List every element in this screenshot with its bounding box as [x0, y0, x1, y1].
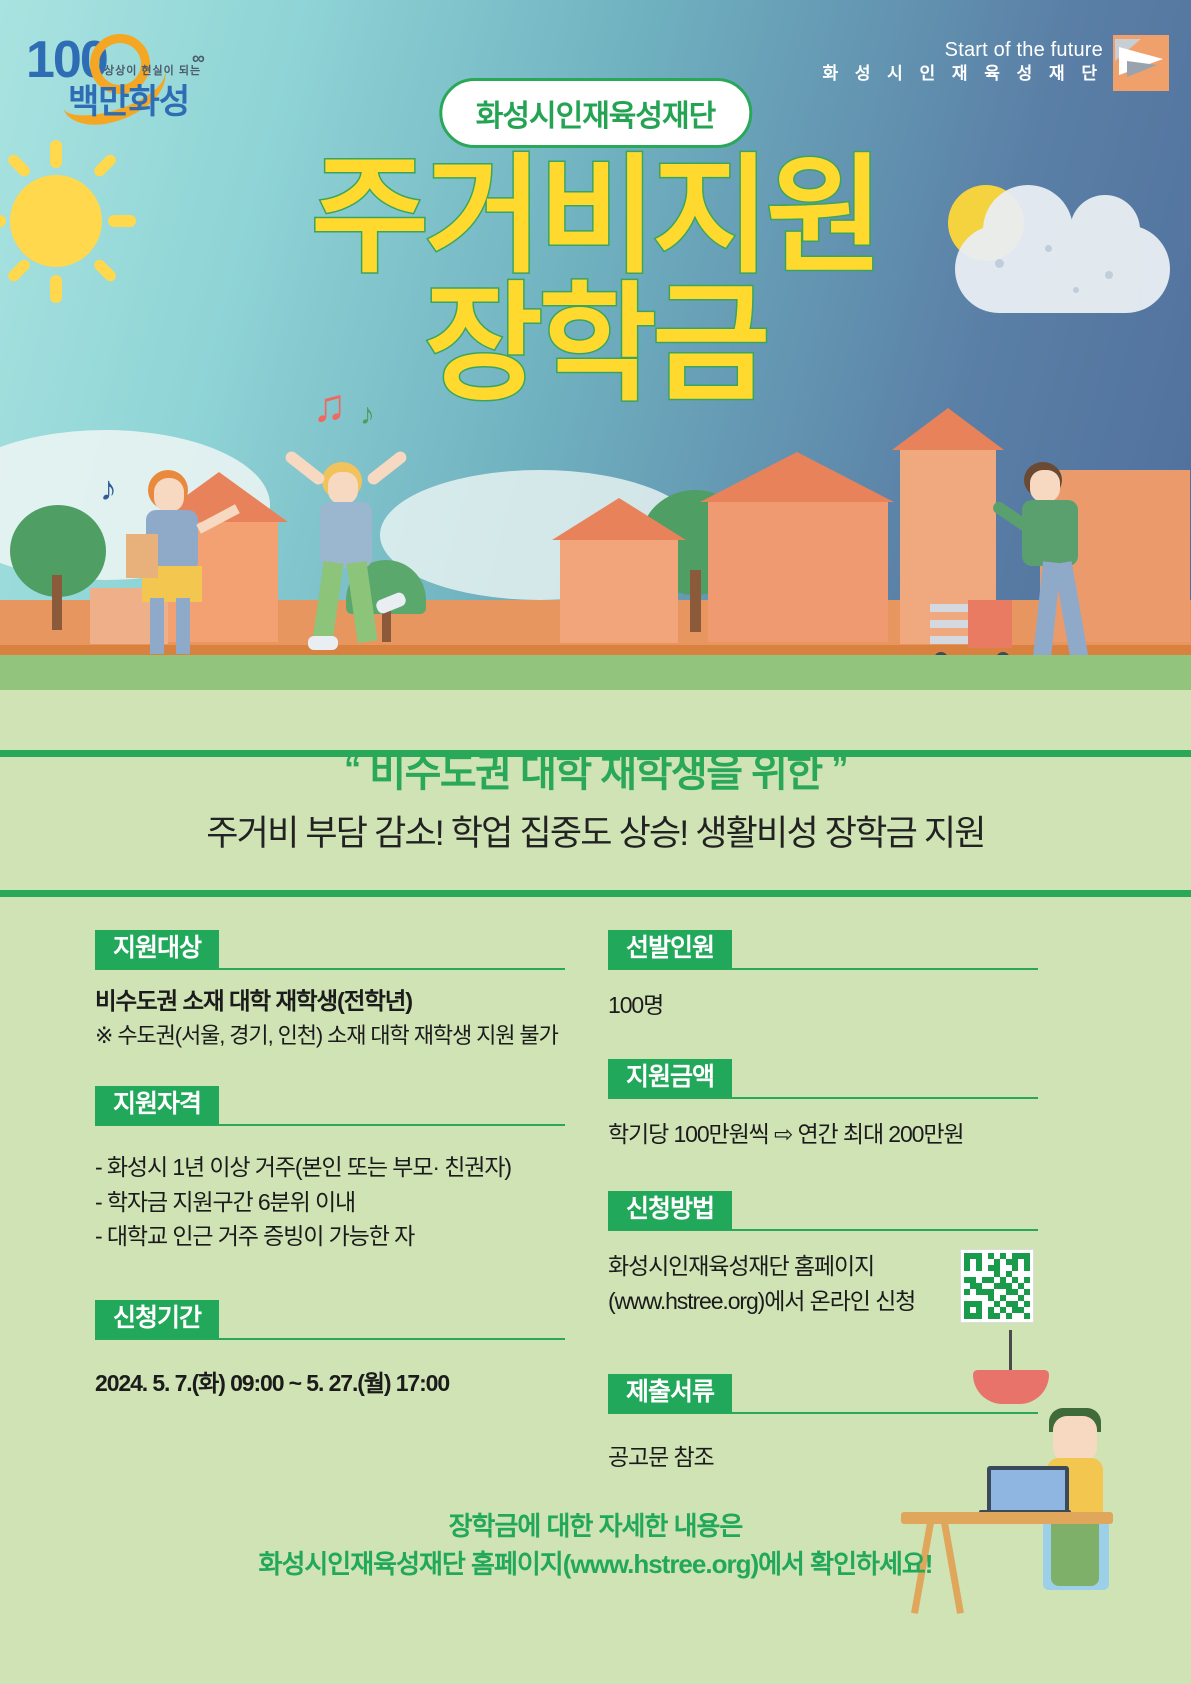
section-target: 지원대상 비수도권 소재 대학 재학생(전학년) ※ 수도권(서울, 경기, 인…	[95, 930, 565, 1052]
quote-close-mark: ”	[831, 750, 847, 788]
section-label-period: 신청기간	[95, 1300, 219, 1339]
left-column: 지원대상 비수도권 소재 대학 재학생(전학년) ※ 수도권(서울, 경기, 인…	[95, 930, 565, 1408]
quote-text: 비수도권 대학 재학생을 위한	[369, 751, 821, 795]
headline-quote: “ 비수도권 대학 재학생을 위한 ”	[0, 740, 1191, 798]
footer-line-2: 화성시인재육성재단 홈페이지(www.hstree.org)에서 확인하세요!	[0, 1546, 1191, 1584]
section-amount: 지원금액 학기당 100만원씩 ⇨ 연간 최대 200만원	[608, 1059, 1038, 1152]
period-value: 2024. 5. 7.(화) 09:00 ~ 5. 27.(월) 17:00	[95, 1370, 449, 1396]
section-label-eligibility: 지원자격	[95, 1086, 219, 1125]
person-head-shape	[1053, 1416, 1097, 1462]
eligibility-item: - 화성시 1년 이상 거주(본인 또는 부모· 친권자)	[95, 1150, 565, 1185]
target-note-text: ※ 수도권(서울, 경기, 인천) 소재 대학 재학생 지원 불가	[95, 1019, 565, 1052]
foundation-english: Start of the future	[822, 39, 1103, 61]
section-label-target: 지원대상	[95, 930, 219, 969]
documents-value: 공고문 참조	[608, 1444, 714, 1470]
music-note-icon: ♪	[100, 470, 117, 509]
music-note-icon: ♫	[312, 378, 347, 432]
house-roof-shape	[552, 498, 686, 540]
amount-value: 학기당 100만원씩 ⇨ 연간 최대 200만원	[608, 1121, 964, 1147]
section-method: 신청방법 화성시인재육성재단 홈페이지 (www.hstree.org)에서 온…	[608, 1191, 1038, 1318]
quota-value: 100명	[608, 992, 663, 1018]
section-quota: 선발인원 100명	[608, 930, 1038, 1023]
house-shape	[560, 538, 678, 643]
title-line-2: 장학금	[0, 278, 1191, 412]
eligibility-item: - 대학교 인근 거주 증빙이 가능한 자	[95, 1219, 565, 1254]
logo-name: 백만화성	[68, 74, 189, 123]
city-brand-logo: 100 상상이 현실이 되는 ∞ 백만화성	[26, 26, 256, 114]
section-label-amount: 지원금액	[608, 1059, 732, 1098]
house-roof-shape	[700, 452, 894, 502]
section-label-quota: 선발인원	[608, 930, 732, 969]
lamp-cord-shape	[1009, 1330, 1012, 1372]
quote-open-mark: “	[344, 750, 360, 788]
divider-bottom	[0, 890, 1191, 897]
paper-plane-icon	[1113, 35, 1169, 91]
target-main-text: 비수도권 소재 대학 재학생(전학년)	[95, 984, 565, 1019]
qr-code-icon[interactable]	[960, 1249, 1034, 1323]
section-label-method: 신청방법	[608, 1191, 732, 1230]
section-label-documents: 제출서류	[608, 1374, 732, 1413]
infinity-icon: ∞	[192, 48, 205, 69]
hero-illustration: 100 상상이 현실이 되는 ∞ 백만화성 Start of the futur…	[0, 0, 1191, 690]
section-eligibility: 지원자격 - 화성시 1년 이상 거주(본인 또는 부모· 친권자) - 학자금…	[95, 1086, 565, 1254]
poster-root: 100 상상이 현실이 되는 ∞ 백만화성 Start of the futur…	[0, 0, 1191, 1684]
foundation-badge: 화성시인재육성재단	[439, 78, 752, 148]
foundation-korean: 화 성 시 인 재 육 성 재 단	[822, 61, 1103, 87]
footer-note: 장학금에 대한 자세한 내용은 화성시인재육성재단 홈페이지(www.hstre…	[0, 1508, 1191, 1583]
foundation-logo: Start of the future 화 성 시 인 재 육 성 재 단	[822, 28, 1169, 98]
house-shape	[708, 500, 888, 642]
lamp-icon	[973, 1370, 1049, 1404]
poster-title: 주거비지원 장학금	[0, 150, 1191, 413]
music-note-icon: ♪	[360, 398, 375, 432]
footer-line-1: 장학금에 대한 자세한 내용은	[0, 1508, 1191, 1546]
headline-subtitle: 주거비 부담 감소! 학업 집중도 상승! 생활비성 장학금 지원	[0, 805, 1191, 856]
eligibility-item: - 학자금 지원구간 6분위 이내	[95, 1185, 565, 1220]
title-line-1: 주거비지원	[0, 150, 1191, 284]
section-period: 신청기간 2024. 5. 7.(화) 09:00 ~ 5. 27.(월) 17…	[95, 1300, 565, 1401]
house-roof-shape	[892, 408, 1004, 450]
hero-bottom-band	[0, 655, 1191, 690]
